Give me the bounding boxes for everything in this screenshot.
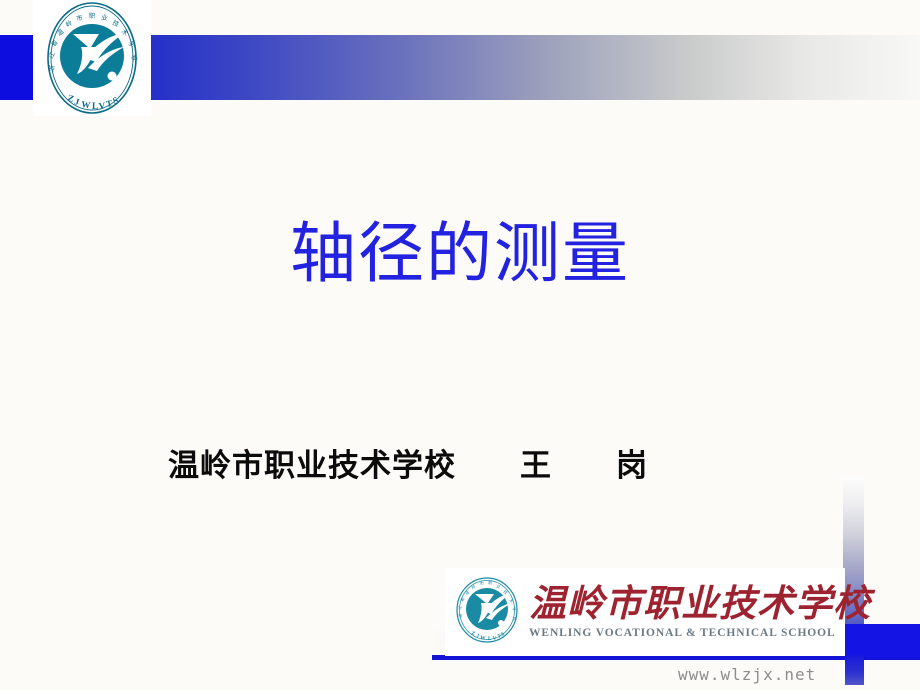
- footer-logo-box: 浙 江 省 温 岭 市 职 业 技 术 学 校 Z J W L: [445, 568, 845, 656]
- svg-text:市: 市: [479, 579, 484, 585]
- slide-subtitle: 温岭市职业技术学校 王 岗: [168, 440, 648, 485]
- footer-logo-text: 温岭市职业技术学校 WENLING VOCATIONAL & TECHNICAL…: [529, 585, 871, 639]
- svg-text:职: 职: [89, 12, 96, 20]
- svg-text:岭: 岭: [470, 583, 476, 590]
- svg-text:W: W: [480, 635, 487, 642]
- svg-text:职: 职: [488, 580, 493, 586]
- svg-text:业: 业: [496, 582, 502, 589]
- vertical-bar-tail: [845, 655, 864, 685]
- footer-school-name-cn: 温岭市职业技术学校: [529, 585, 871, 622]
- header-gradient-bar: [150, 35, 920, 100]
- header-logo-box: 浙 江 省 温 岭 市 职 业 技 术 学 校 Z J W: [33, 0, 151, 116]
- footer-school-name-en: WENLING VOCATIONAL & TECHNICAL SCHOOL: [529, 627, 871, 639]
- school-emblem-icon: 浙 江 省 温 岭 市 职 业 技 术 学 校 Z J W: [33, 0, 151, 116]
- footer-url: www.wlzjx.net: [678, 665, 816, 684]
- svg-text:校: 校: [512, 615, 519, 620]
- svg-text:浙: 浙: [456, 612, 463, 617]
- presentation-slide: 浙 江 省 温 岭 市 职 业 技 术 学 校 Z J W: [0, 0, 920, 690]
- svg-text:W: W: [81, 99, 91, 110]
- slide-title: 轴径的测量: [0, 218, 920, 289]
- svg-text:L: L: [92, 101, 98, 111]
- school-emblem-icon: 浙 江 省 温 岭 市 职 业 技 术 学 校 Z J W L: [451, 574, 523, 651]
